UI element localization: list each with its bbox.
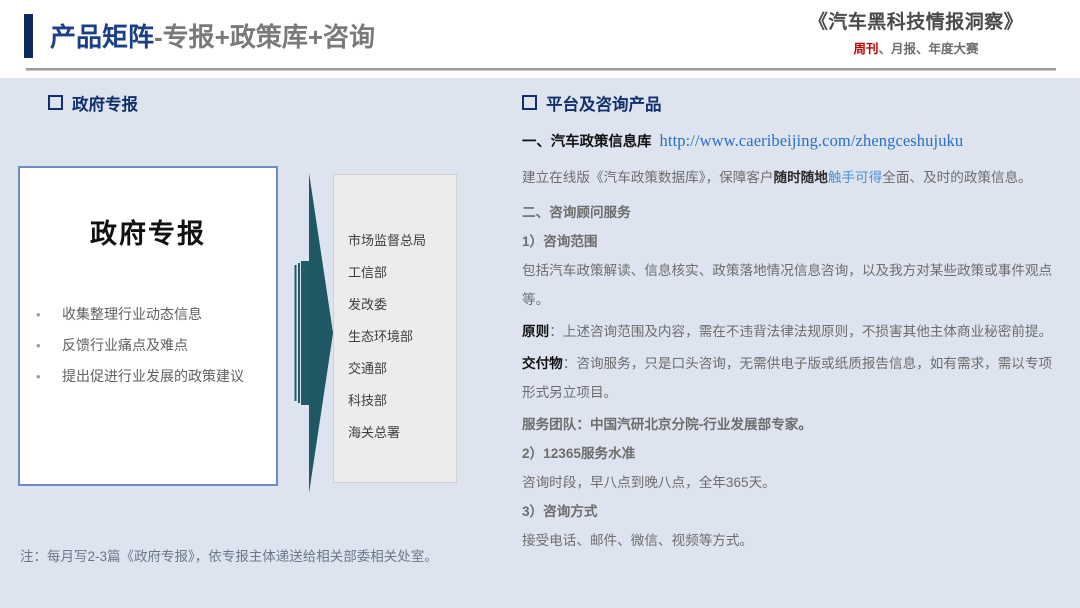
government-report-card: 政府专报 收集整理行业动态信息 反馈行业痛点及难点 提出促进行业发展的政策建议 [18, 166, 278, 486]
list-item: 科技部 [348, 385, 456, 417]
section-1-emphasis-blue: 触手可得 [828, 170, 882, 185]
square-bullet-icon [48, 95, 63, 110]
list-item: 工信部 [348, 257, 456, 289]
list-item: 反馈行业痛点及难点 [20, 330, 276, 361]
section-1-title-row: 一、汽车政策信息库http://www.caeribeijing.com/zhe… [522, 126, 1058, 157]
left-panel-heading-label: 政府专报 [72, 96, 138, 114]
section-1-emphasis-dark: 随时随地 [773, 170, 827, 185]
item-3-title: 3）咨询方式 [522, 497, 1058, 526]
list-item: 提出促进行业发展的政策建议 [20, 361, 276, 392]
page-title-main: 产品矩阵 [50, 22, 154, 52]
section-1-paragraph-part-a: 建立在线版《汽车政策数据库》，保障客户 [522, 170, 773, 185]
left-panel-heading: 政府专报 [48, 91, 138, 115]
list-item: 市场监督总局 [348, 225, 456, 257]
slide-body: 政府专报 政府专报 收集整理行业动态信息 反馈行业痛点及难点 提出促进行业发展的… [0, 78, 1080, 608]
list-item: 海关总署 [348, 417, 456, 449]
brand-subtitle-rest: 、月报、年度大赛 [879, 42, 979, 56]
right-panel-heading: 平台及咨询产品 [522, 91, 662, 115]
slide-header: 产品矩阵-专报+政策库+咨询 《汽车黑科技情报洞察》 周刊、月报、年度大赛 [0, 0, 1080, 78]
ministry-list: 市场监督总局 工信部 发改委 生态环境部 交通部 科技部 海关总署 [334, 175, 456, 449]
deliverable-paragraph: 交付物：咨询服务，只是口头咨询，无需供电子版或纸质报告信息，如有需求，需以专项形… [522, 349, 1058, 407]
item-1-title: 1）咨询范围 [522, 227, 1058, 256]
page-title: 产品矩阵-专报+政策库+咨询 [50, 18, 375, 56]
header-divider [26, 68, 1056, 71]
brand-block: 《汽车黑科技情报洞察》 周刊、月报、年度大赛 [776, 10, 1056, 58]
right-panel-heading-label: 平台及咨询产品 [546, 96, 662, 114]
right-arrow-icon [287, 173, 339, 493]
left-panel-footnote: 注：每月写2-3篇《政府专报》，依专报主体递送给相关部委相关处室。 [20, 545, 438, 565]
section-1-paragraph-part-b: 全面、及时的政策信息。 [882, 170, 1032, 185]
policy-database-link[interactable]: http://www.caeribeijing.com/zhengceshuju… [660, 131, 964, 150]
principle-paragraph: 原则：上述咨询范围及内容，需在不违背法律法规原则，不损害其他主体商业秘密前提。 [522, 317, 1058, 346]
team-paragraph: 服务团队：中国汽研北京分院-行业发展部专家。 [522, 410, 1058, 439]
list-item: 发改委 [348, 289, 456, 321]
title-accent-bar [24, 14, 33, 58]
section-1-paragraph: 建立在线版《汽车政策数据库》，保障客户随时随地触手可得全面、及时的政策信息。 [522, 163, 1058, 192]
item-1-body: 包括汽车政策解读、信息核实、政策落地情况信息咨询，以及我方对某些政策或事件观点等… [522, 256, 1058, 314]
deliverable-body: ：咨询服务，只是口头咨询，无需供电子版或纸质报告信息，如有需求，需以专项形式另立… [522, 356, 1052, 400]
page-title-sub: -专报+政策库+咨询 [154, 22, 375, 52]
government-report-card-title: 政府专报 [20, 212, 276, 251]
deliverable-label: 交付物 [522, 356, 563, 371]
government-report-bullet-list: 收集整理行业动态信息 反馈行业痛点及难点 提出促进行业发展的政策建议 [20, 299, 276, 392]
section-1-title: 一、汽车政策信息库 [522, 134, 652, 150]
brand-subtitle: 周刊、月报、年度大赛 [776, 41, 1056, 58]
principle-body: ：上述咨询范围及内容，需在不违背法律法规原则，不损害其他主体商业秘密前提。 [549, 324, 1052, 339]
square-bullet-icon [522, 95, 537, 110]
item-3-body: 接受电话、邮件、微信、视频等方式。 [522, 526, 1058, 555]
section-2-title: 二、咨询顾问服务 [522, 198, 1058, 227]
brand-subtitle-highlight: 周刊 [853, 42, 878, 56]
team-body: ：中国汽研北京分院-行业发展部专家。 [576, 417, 812, 432]
brand-title: 《汽车黑科技情报洞察》 [776, 10, 1056, 36]
list-item: 生态环境部 [348, 321, 456, 353]
list-item: 收集整理行业动态信息 [20, 299, 276, 330]
right-panel-body: 一、汽车政策信息库http://www.caeribeijing.com/zhe… [522, 126, 1058, 555]
ministry-list-box: 市场监督总局 工信部 发改委 生态环境部 交通部 科技部 海关总署 [333, 174, 457, 483]
item-2-body: 咨询时段，早八点到晚八点，全年365天。 [522, 468, 1058, 497]
team-label: 服务团队 [522, 417, 576, 432]
list-item: 交通部 [348, 353, 456, 385]
principle-label: 原则 [522, 324, 549, 339]
item-2-title: 2）12365服务水准 [522, 439, 1058, 468]
